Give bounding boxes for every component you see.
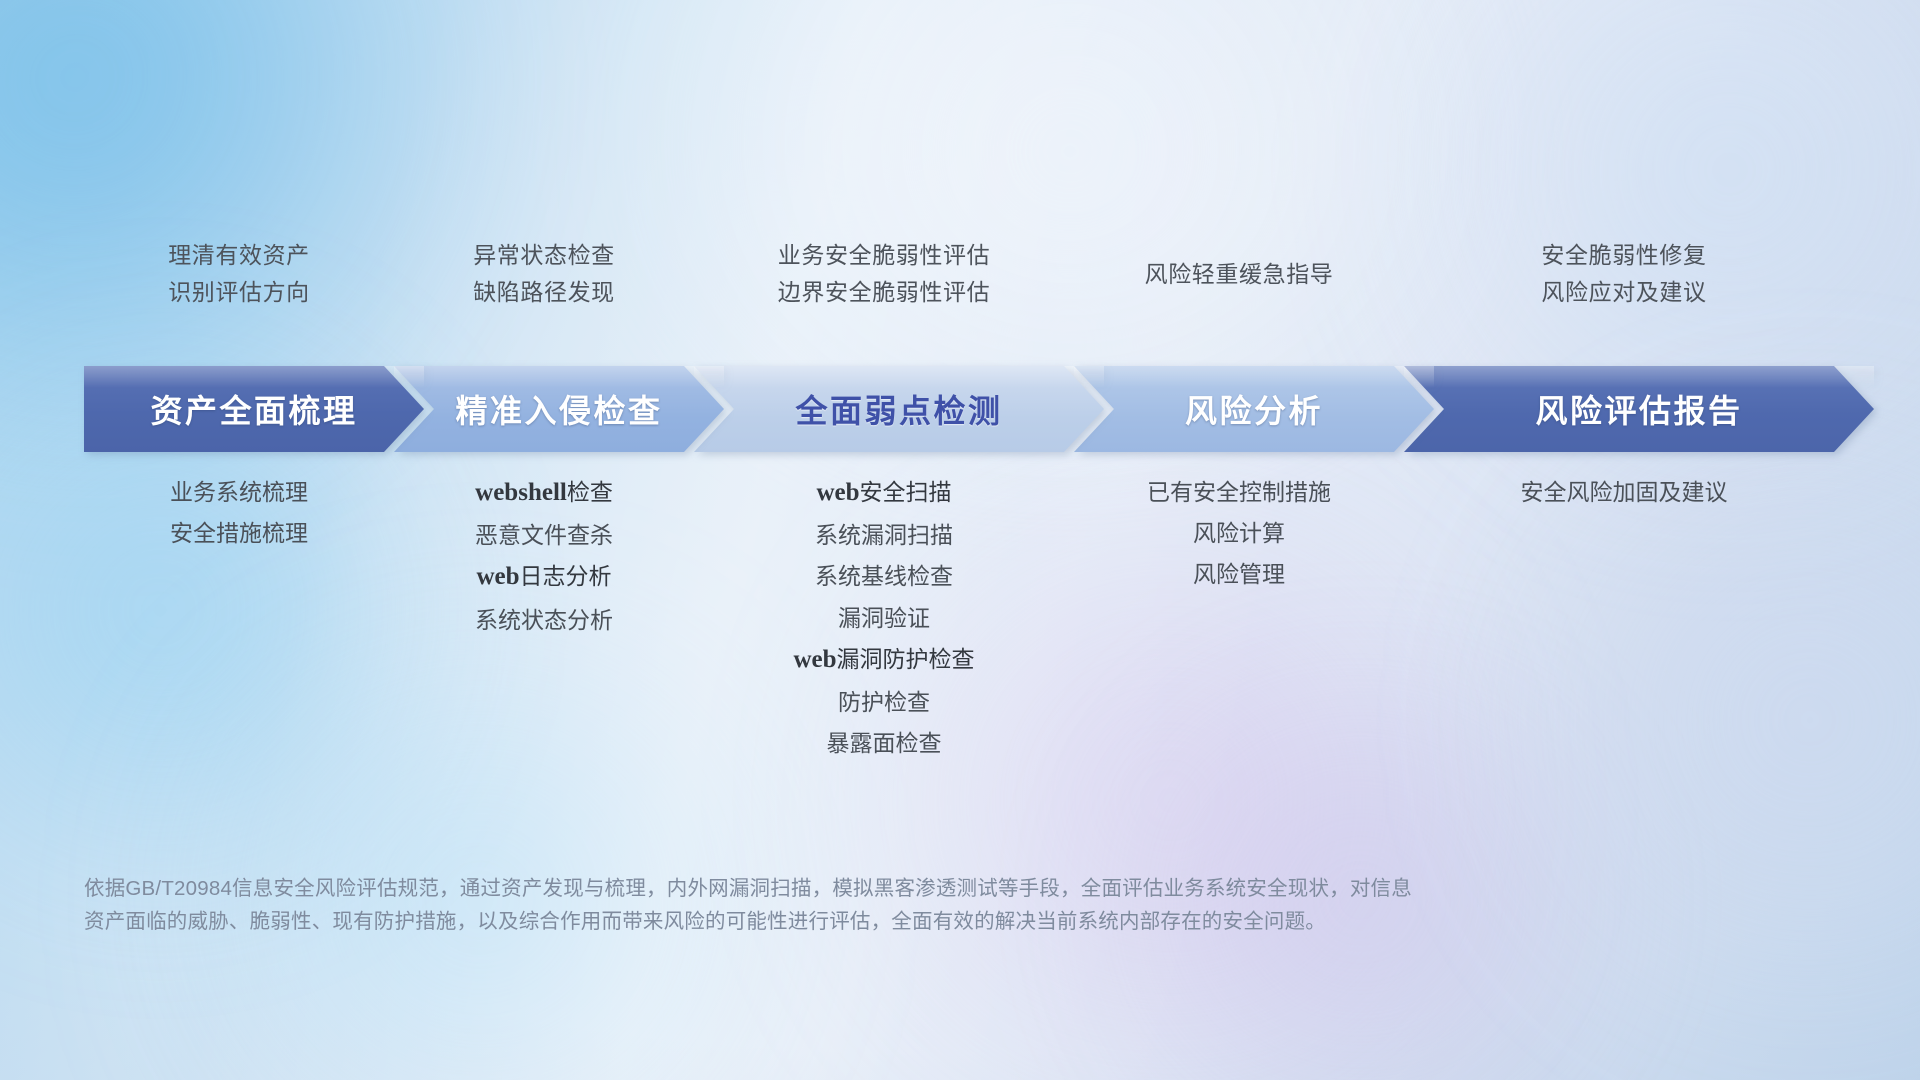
detail-list-intrusion-check: webshell检查恶意文件查杀web日志分析系统状态分析 bbox=[394, 452, 694, 632]
detail-item: 防护检查 bbox=[838, 690, 930, 714]
detail-item: 已有安全控制措施 bbox=[1147, 480, 1331, 504]
detail-item: web漏洞防护检查 bbox=[793, 647, 974, 673]
caption-line: 缺陷路径发现 bbox=[473, 281, 615, 304]
detail-item: 恶意文件查杀 bbox=[475, 523, 613, 547]
detail-item: web安全扫描 bbox=[816, 480, 951, 506]
arrow-stage-risk-report[interactable]: 风险评估报告 bbox=[1404, 366, 1874, 452]
detail-item: 系统基线检查 bbox=[815, 564, 953, 588]
detail-list-risk-report: 安全风险加固及建议 bbox=[1404, 452, 1844, 504]
detail-item: 系统漏洞扫描 bbox=[815, 523, 953, 547]
arrow-stage-risk-analysis[interactable]: 风险分析 bbox=[1074, 366, 1434, 452]
detail-item: 风险管理 bbox=[1193, 562, 1285, 586]
footer-line-1: 依据GB/T20984信息安全风险评估规范，通过资产发现与梳理，内外网漏洞扫描，… bbox=[84, 872, 1584, 905]
detail-item-latin: webshell bbox=[475, 479, 567, 506]
caption-line: 安全脆弱性修复 bbox=[1541, 244, 1706, 267]
detail-list-weakness-detection: web安全扫描系统漏洞扫描系统基线检查漏洞验证web漏洞防护检查防护检查暴露面检… bbox=[694, 452, 1074, 755]
caption-line: 识别评估方向 bbox=[168, 281, 310, 304]
detail-list-risk-analysis: 已有安全控制措施风险计算风险管理 bbox=[1074, 452, 1404, 586]
arrow-stage-label: 精准入侵检查 bbox=[455, 386, 662, 432]
detail-item: 业务系统梳理 bbox=[170, 480, 308, 504]
top-captions-intrusion-check: 异常状态检查缺陷路径发现 bbox=[394, 228, 694, 320]
arrow-stage-label: 风险分析 bbox=[1185, 386, 1323, 432]
detail-item-latin: web bbox=[816, 479, 859, 506]
top-captions-risk-analysis: 风险轻重缓急指导 bbox=[1074, 228, 1404, 320]
caption-line: 理清有效资产 bbox=[168, 244, 310, 267]
top-captions-asset-inventory: 理清有效资产识别评估方向 bbox=[84, 228, 394, 320]
detail-item: 暴露面检查 bbox=[827, 731, 942, 755]
arrow-stage-weakness-detection[interactable]: 全面弱点检测 bbox=[694, 366, 1104, 452]
detail-item-cjk: 安全扫描 bbox=[860, 479, 952, 505]
stage-detail-row: 业务系统梳理安全措施梳理webshell检查恶意文件查杀web日志分析系统状态分… bbox=[84, 452, 1844, 755]
slide-canvas: 理清有效资产识别评估方向异常状态检查缺陷路径发现业务安全脆弱性评估边界安全脆弱性… bbox=[0, 0, 1920, 1080]
arrow-stage-label: 风险评估报告 bbox=[1535, 386, 1742, 432]
detail-item-latin: web bbox=[793, 646, 836, 673]
detail-item-cjk: 日志分析 bbox=[520, 563, 612, 589]
caption-line: 边界安全脆弱性评估 bbox=[778, 281, 990, 304]
caption-line: 异常状态检查 bbox=[473, 244, 615, 267]
detail-item: webshell检查 bbox=[475, 480, 613, 506]
top-captions-risk-report: 安全脆弱性修复风险应对及建议 bbox=[1404, 228, 1844, 320]
arrow-stage-label: 资产全面梳理 bbox=[150, 386, 357, 432]
detail-item: 漏洞验证 bbox=[838, 606, 930, 630]
detail-item-cjk: 漏洞防护检查 bbox=[837, 646, 975, 672]
caption-line: 业务安全脆弱性评估 bbox=[778, 244, 990, 267]
detail-item-cjk: 检查 bbox=[567, 479, 613, 505]
footer-description: 依据GB/T20984信息安全风险评估规范，通过资产发现与梳理，内外网漏洞扫描，… bbox=[84, 872, 1584, 938]
detail-item: 安全措施梳理 bbox=[170, 521, 308, 545]
arrow-stage-asset-inventory[interactable]: 资产全面梳理 bbox=[84, 366, 424, 452]
caption-line: 风险应对及建议 bbox=[1541, 281, 1706, 304]
arrow-stage-label: 全面弱点检测 bbox=[795, 386, 1002, 432]
top-caption-row: 理清有效资产识别评估方向异常状态检查缺陷路径发现业务安全脆弱性评估边界安全脆弱性… bbox=[84, 228, 1844, 320]
caption-line: 风险轻重缓急指导 bbox=[1145, 263, 1334, 286]
detail-item: 系统状态分析 bbox=[475, 608, 613, 632]
detail-item-latin: web bbox=[476, 563, 519, 590]
arrow-stage-intrusion-check[interactable]: 精准入侵检查 bbox=[394, 366, 724, 452]
detail-item: 风险计算 bbox=[1193, 521, 1285, 545]
detail-item: web日志分析 bbox=[476, 564, 611, 590]
top-captions-weakness-detection: 业务安全脆弱性评估边界安全脆弱性评估 bbox=[694, 228, 1074, 320]
detail-item: 安全风险加固及建议 bbox=[1521, 480, 1728, 504]
footer-line-2: 资产面临的威胁、脆弱性、现有防护措施，以及综合作用而带来风险的可能性进行评估，全… bbox=[84, 905, 1584, 938]
detail-list-asset-inventory: 业务系统梳理安全措施梳理 bbox=[84, 452, 394, 545]
process-arrow-band: 资产全面梳理精准入侵检查全面弱点检测风险分析风险评估报告 bbox=[84, 366, 1844, 452]
